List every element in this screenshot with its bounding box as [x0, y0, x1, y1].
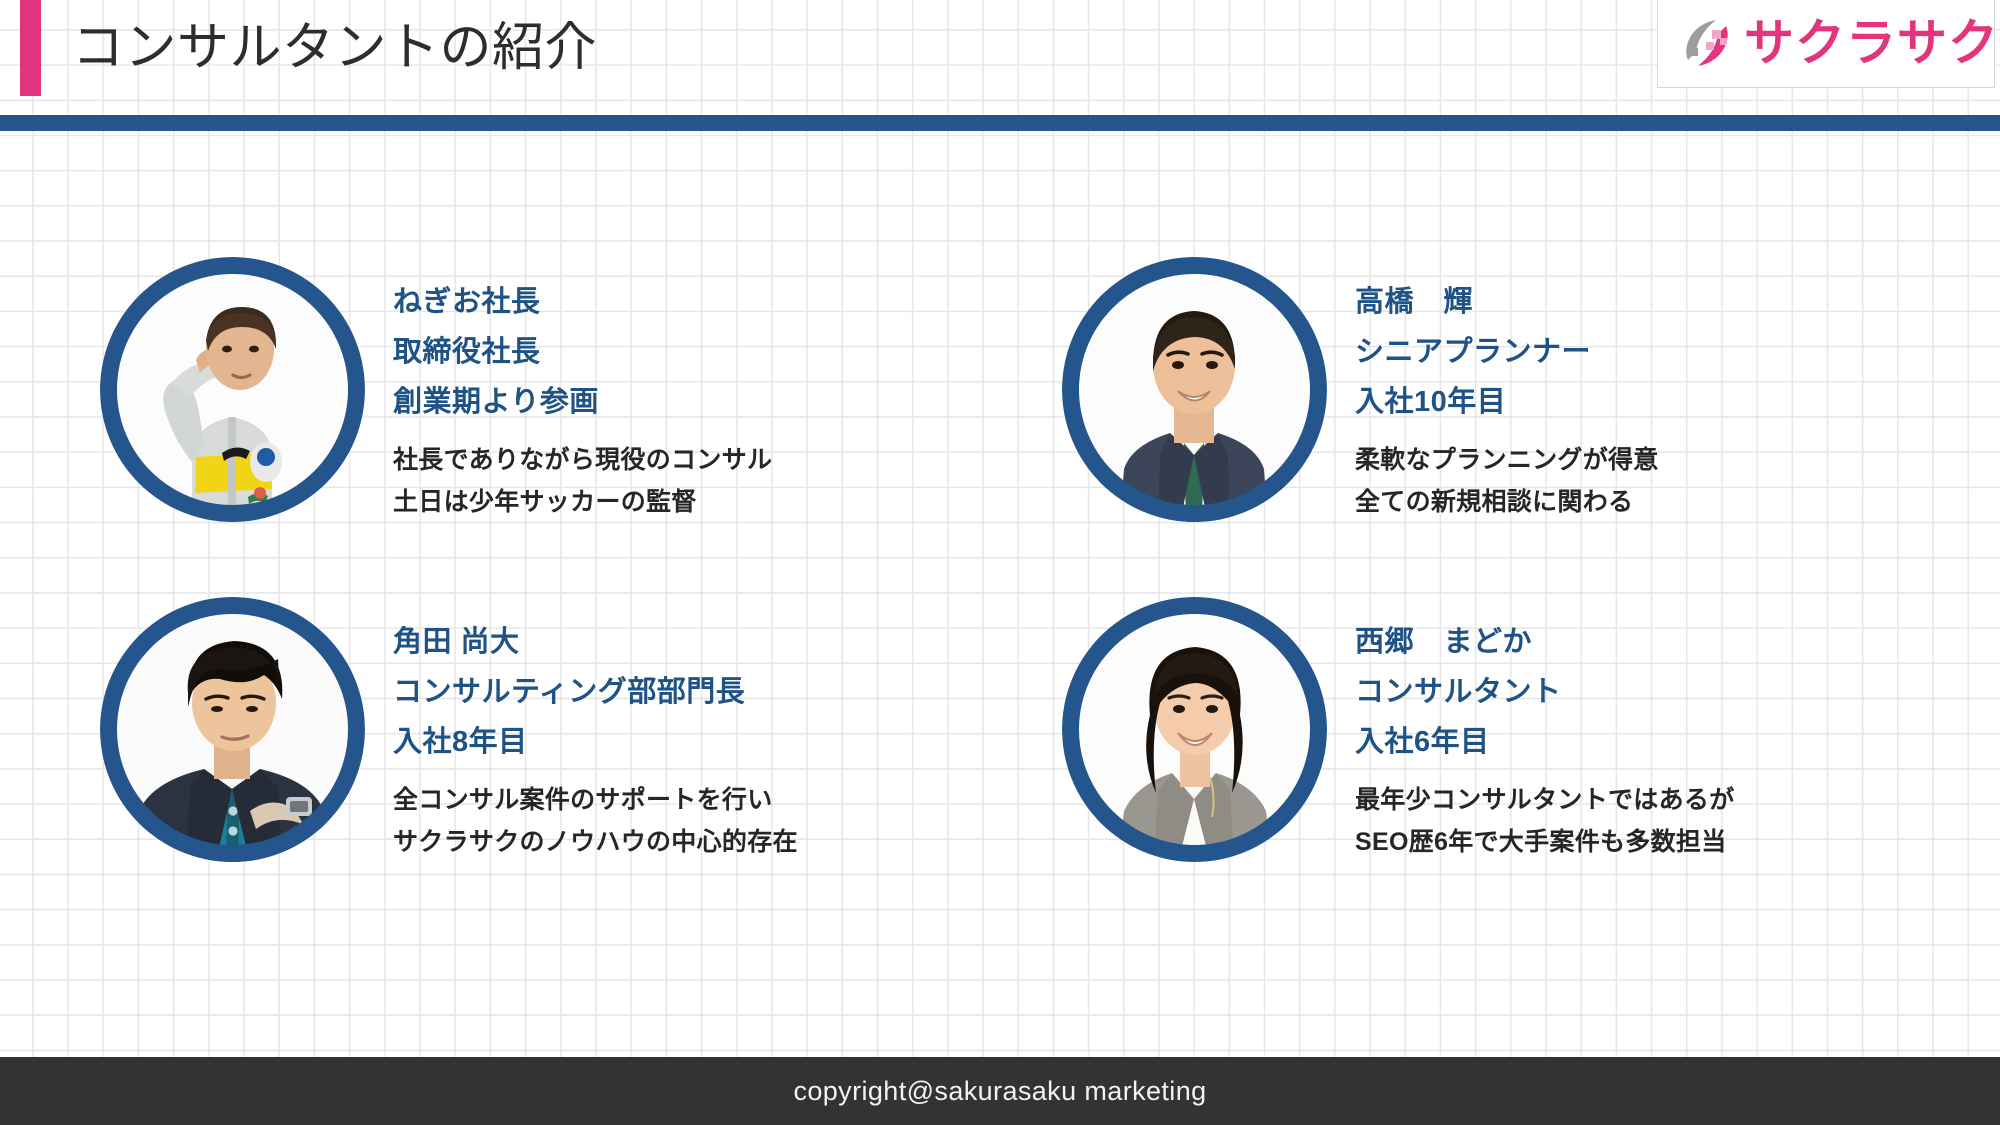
consultant-role: コンサルティング部部門長 [393, 667, 798, 717]
sakura-swoosh-icon [1676, 12, 1738, 74]
consultant-cards: ねぎお社長 取締役社長 創業期より参画 社長でありながら現役のコンサル 土日は少… [0, 131, 2000, 1071]
consultant-tenure: 入社8年目 [393, 717, 798, 767]
consultant-card: 西郷 まどか コンサルタント 入社6年目 最年少コンサルタントではあるが SEO… [1062, 597, 1735, 863]
consultant-desc-line1: 柔軟なプランニングが得意 [1355, 439, 1659, 481]
consultant-tenure: 入社10年目 [1355, 377, 1659, 427]
consultant-card: 角田 尚大 コンサルティング部部門長 入社8年目 全コンサル案件のサポートを行い… [100, 597, 798, 863]
consultant-role: シニアプランナー [1355, 327, 1659, 377]
consultant-name: 高橋 輝 [1355, 277, 1659, 327]
page-title: コンサルタントの紹介 [72, 8, 597, 88]
consultant-card: 高橋 輝 シニアプランナー 入社10年目 柔軟なプランニングが得意 全ての新規相… [1062, 257, 1659, 523]
avatar-tsunoda-naohiro [100, 597, 365, 862]
title-accent-bar [20, 0, 41, 96]
consultant-info: 角田 尚大 コンサルティング部部門長 入社8年目 全コンサル案件のサポートを行い… [393, 597, 798, 863]
consultant-desc-line2: 土日は少年サッカーの監督 [393, 481, 772, 523]
brand-logo-text: サクラサク [1744, 18, 1999, 68]
consultant-desc-line1: 全コンサル案件のサポートを行い [393, 779, 798, 821]
avatar-saigo-madoka [1062, 597, 1327, 862]
header-divider [0, 115, 2000, 131]
consultant-role: コンサルタント [1355, 667, 1735, 717]
consultant-desc-line2: 全ての新規相談に関わる [1355, 481, 1659, 523]
avatar [1062, 257, 1327, 522]
consultant-desc-line1: 最年少コンサルタントではあるが [1355, 779, 1735, 821]
copyright-text: copyright@sakurasaku marketing [793, 1076, 1206, 1107]
consultant-desc-line1: 社長でありながら現役のコンサル [393, 439, 772, 481]
slide-canvas: コンサルタントの紹介 サクラサク [0, 0, 2000, 1125]
slide-header: コンサルタントの紹介 サクラサク [0, 0, 2000, 98]
consultant-desc-line2: サクラサクのノウハウの中心的存在 [393, 821, 798, 863]
consultant-tenure: 入社6年目 [1355, 717, 1735, 767]
avatar-negio-shacho [100, 257, 365, 522]
avatar [1062, 597, 1327, 862]
avatar [100, 257, 365, 522]
consultant-info: ねぎお社長 取締役社長 創業期より参画 社長でありながら現役のコンサル 土日は少… [393, 257, 772, 523]
consultant-tenure: 創業期より参画 [393, 377, 772, 427]
consultant-info: 高橋 輝 シニアプランナー 入社10年目 柔軟なプランニングが得意 全ての新規相… [1355, 257, 1659, 523]
consultant-card: ねぎお社長 取締役社長 創業期より参画 社長でありながら現役のコンサル 土日は少… [100, 257, 772, 523]
brand-logo[interactable]: サクラサク [1657, 0, 1995, 88]
avatar [100, 597, 365, 862]
consultant-name: 角田 尚大 [393, 617, 798, 667]
consultant-info: 西郷 まどか コンサルタント 入社6年目 最年少コンサルタントではあるが SEO… [1355, 597, 1735, 863]
avatar-takahashi-hikaru [1062, 257, 1327, 522]
consultant-name: ねぎお社長 [393, 277, 772, 327]
consultant-role: 取締役社長 [393, 327, 772, 377]
consultant-desc-line2: SEO歴6年で大手案件も多数担当 [1355, 821, 1735, 863]
consultant-name: 西郷 まどか [1355, 617, 1735, 667]
slide-footer: copyright@sakurasaku marketing [0, 1057, 2000, 1125]
